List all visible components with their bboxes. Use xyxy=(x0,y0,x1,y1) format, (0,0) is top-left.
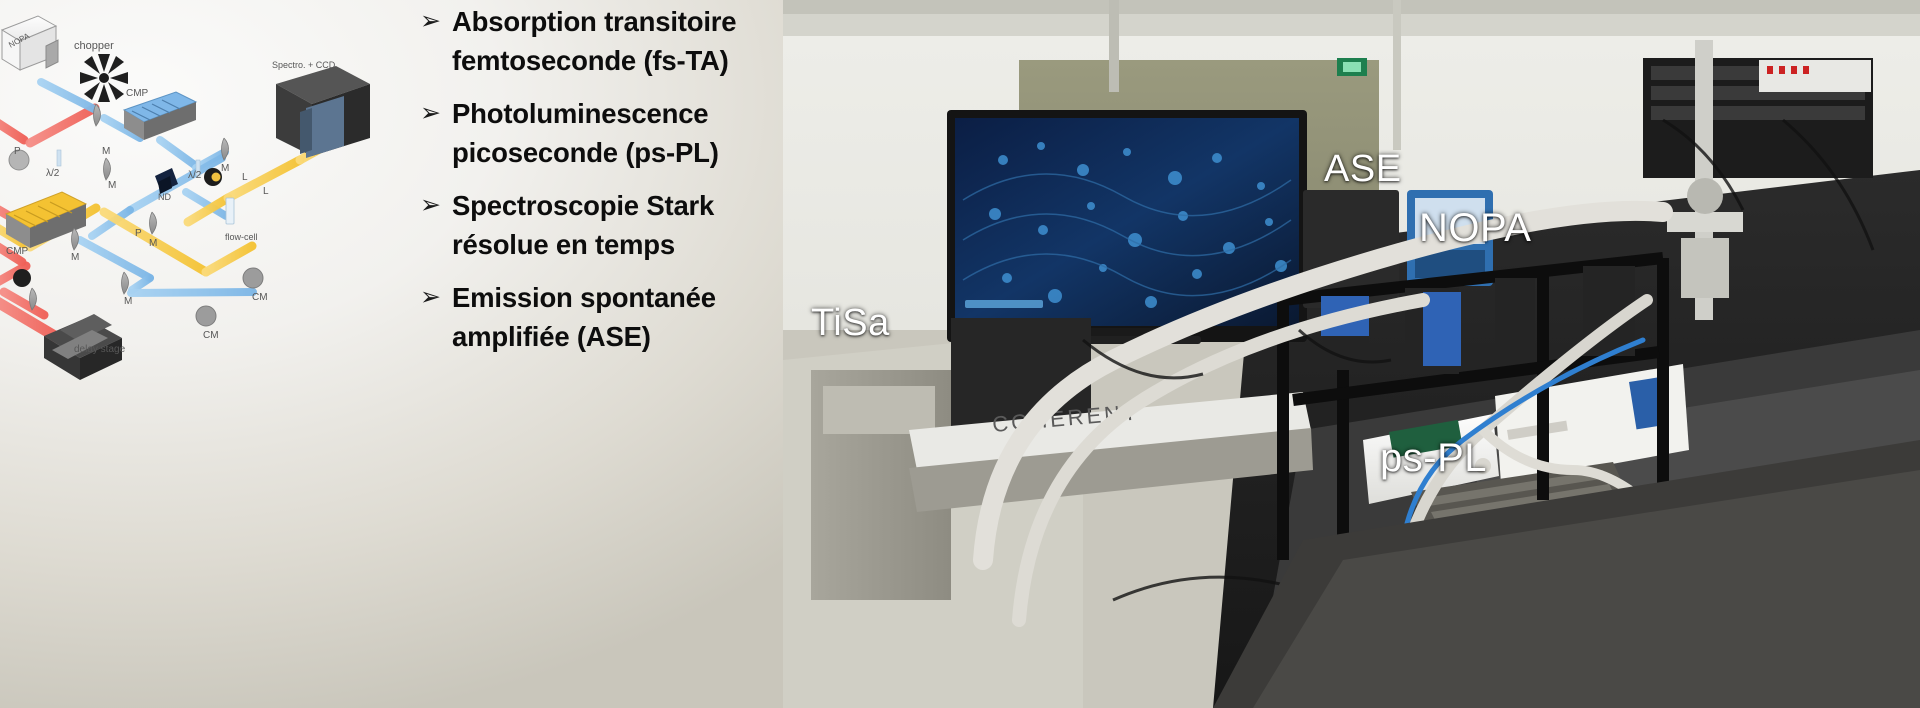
bullet-text-stark: Spectroscopie Stark résolue en temps xyxy=(452,186,714,264)
bullet-item-fs-ta: ➢ Absorption transitoire femtoseconde (f… xyxy=(418,2,778,80)
optical-setup-diagram: NOPA chopper CMP Spectro. + CCD M M P λ/… xyxy=(0,0,410,430)
nopa-source-box xyxy=(2,16,58,70)
bullet-line-1: Emission spontanée xyxy=(452,278,716,317)
bullet-arrow-icon: ➢ xyxy=(418,2,452,40)
bullet-line-1: Photoluminescence xyxy=(452,94,719,133)
spectrometer-ccd xyxy=(276,66,370,158)
photo-ceiling-rod xyxy=(1109,0,1119,92)
bullet-line-1: Absorption transitoire xyxy=(452,2,736,41)
bullet-line-2: femtoseconde (fs-TA) xyxy=(452,41,736,80)
delay-stage-unit xyxy=(44,314,122,380)
mirror-m5-glyph xyxy=(150,212,157,234)
photo-rack-panel xyxy=(1759,60,1871,92)
bullet-text-ase: Emission spontanée amplifiée (ASE) xyxy=(452,278,716,356)
mirror-m1-glyph xyxy=(94,104,101,126)
bullet-line-2: amplifiée (ASE) xyxy=(452,317,716,356)
mirror-m4-glyph xyxy=(72,228,79,250)
curved-mirrors-group xyxy=(196,268,263,326)
slide-root: NOPA chopper CMP Spectro. + CCD M M P λ/… xyxy=(0,0,1920,708)
bullet-arrow-icon: ➢ xyxy=(418,94,452,132)
bullet-line-2: résolue en temps xyxy=(452,225,714,264)
bullet-text-ps-pl: Photoluminescence picoseconde (ps-PL) xyxy=(452,94,719,172)
bullet-arrow-icon: ➢ xyxy=(418,186,452,224)
mirror-m6-glyph xyxy=(122,272,129,294)
mirror-m3-glyph xyxy=(104,158,111,180)
left-panel: NOPA chopper CMP Spectro. + CCD M M P λ/… xyxy=(0,0,783,708)
chopper-wheel xyxy=(80,54,128,102)
bullet-line-1: Spectroscopie Stark xyxy=(452,186,714,225)
bullet-item-ps-pl: ➢ Photoluminescence picoseconde (ps-PL) xyxy=(418,94,778,172)
technique-bullet-list: ➢ Absorption transitoire femtoseconde (f… xyxy=(418,2,778,370)
bullet-line-2: picoseconde (ps-PL) xyxy=(452,133,719,172)
bullet-item-stark: ➢ Spectroscopie Stark résolue en temps xyxy=(418,186,778,264)
bullet-text-fs-ta: Absorption transitoire femtoseconde (fs-… xyxy=(452,2,736,80)
laboratory-photo: COHERENT xyxy=(783,0,1920,708)
compressor-top xyxy=(124,92,196,140)
mirror-m2-glyph xyxy=(222,138,229,160)
bullet-item-ase: ➢ Emission spontanée amplifiée (ASE) xyxy=(418,278,778,356)
bullet-arrow-icon: ➢ xyxy=(418,278,452,316)
